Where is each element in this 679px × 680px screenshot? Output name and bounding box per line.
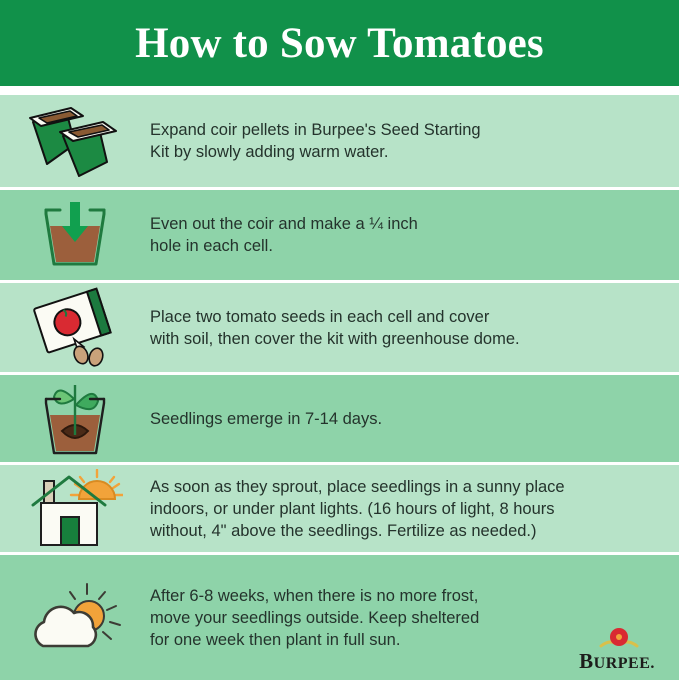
header-divider (0, 86, 679, 95)
step-1-icon-cell (0, 104, 150, 178)
step-row-1: Expand coir pellets in Burpee's Seed Sta… (0, 95, 679, 190)
house-with-sun-icon (27, 469, 123, 549)
step-1-line-1: Expand coir pellets in Burpee's Seed Sta… (150, 119, 663, 141)
step-2-icon-cell (0, 198, 150, 272)
steps-list: Expand coir pellets in Burpee's Seed Sta… (0, 95, 679, 680)
step-row-3: Place two tomato seeds in each cell and … (0, 283, 679, 375)
step-row-5: As soon as they sprout, place seedlings … (0, 465, 679, 555)
pot-with-soil-down-arrow-icon (36, 198, 114, 272)
step-1-line-2: Kit by slowly adding warm water. (150, 141, 663, 163)
seed-tray-cells-icon (27, 104, 123, 178)
burpee-wordmark: BURPEE. (569, 651, 665, 672)
step-6-icon-cell (0, 580, 150, 656)
step-2-line-2: hole in each cell. (150, 235, 663, 257)
step-5-line-3: without, 4" above the seedlings. Fertili… (150, 520, 663, 542)
step-2-text: Even out the coir and make a ¼ inch hole… (150, 213, 679, 257)
burpee-wordmark-rest: URPEE. (594, 655, 655, 672)
step-row-6: After 6-8 weeks, when there is no more f… (0, 555, 679, 680)
step-2-line-1: Even out the coir and make a ¼ inch (150, 213, 663, 235)
seedling-sprout-pot-icon (34, 377, 116, 461)
step-5-line-1: As soon as they sprout, place seedlings … (150, 476, 663, 498)
burpee-flower-icon (599, 626, 639, 652)
step-3-text: Place two tomato seeds in each cell and … (150, 306, 679, 350)
step-3-line-1: Place two tomato seeds in each cell and … (150, 306, 663, 328)
burpee-logo: BURPEE. (569, 626, 665, 672)
cloud-with-sun-icon (25, 580, 125, 656)
step-5-line-2: indoors, or under plant lights. (16 hour… (150, 498, 663, 520)
step-3-icon-cell (0, 287, 150, 369)
step-4-icon-cell (0, 377, 150, 461)
step-5-icon-cell (0, 469, 150, 549)
step-3-line-2: with soil, then cover the kit with green… (150, 328, 663, 350)
step-row-2: Even out the coir and make a ¼ inch hole… (0, 190, 679, 283)
step-4-line-1: Seedlings emerge in 7-14 days. (150, 408, 663, 430)
header-banner: How to Sow Tomatoes (0, 0, 679, 86)
step-4-text: Seedlings emerge in 7-14 days. (150, 408, 679, 430)
step-1-text: Expand coir pellets in Burpee's Seed Sta… (150, 119, 679, 163)
seed-packet-tomato-icon (28, 287, 122, 369)
step-row-4: Seedlings emerge in 7-14 days. (0, 375, 679, 465)
step-6-line-1: After 6-8 weeks, when there is no more f… (150, 585, 663, 607)
page-title: How to Sow Tomatoes (135, 22, 544, 65)
infographic-root: How to Sow Tomatoes (0, 0, 679, 679)
step-5-text: As soon as they sprout, place seedlings … (150, 476, 679, 542)
